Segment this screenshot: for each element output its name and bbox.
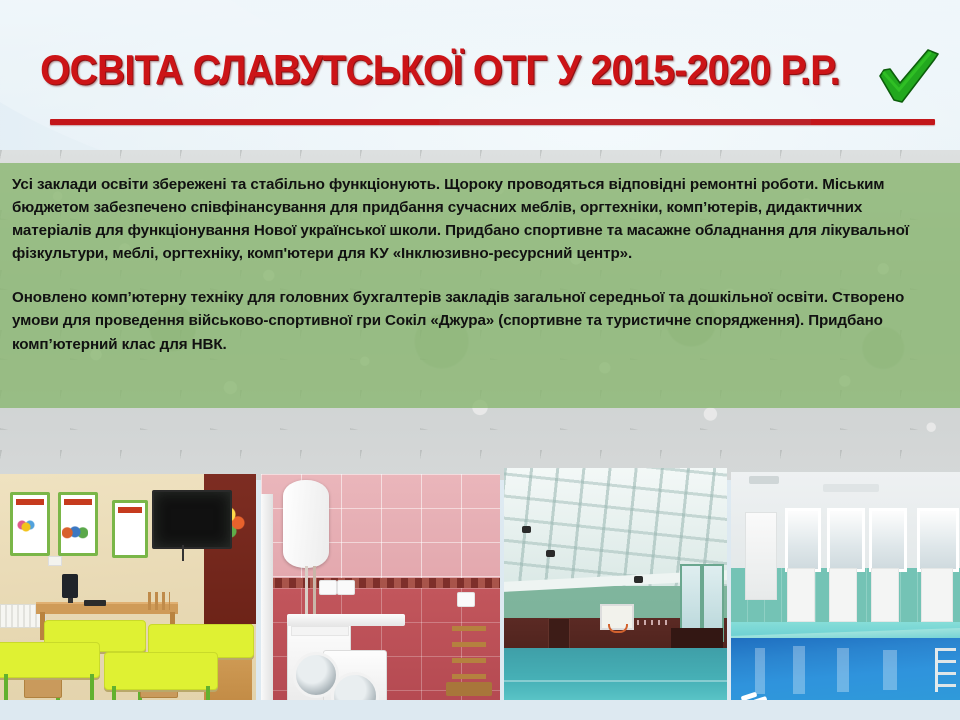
laundry-pipe: [305, 566, 308, 616]
pool-window: [785, 508, 821, 572]
classroom-keyboard: [84, 600, 106, 606]
classroom-poster-flower-art: [16, 518, 36, 538]
classroom-television: [152, 490, 232, 549]
pool-window: [827, 508, 865, 572]
pool-water-reflection: [883, 650, 897, 690]
page-title: ОСВІТА СЛАВУТСЬКОЇ ОТГ У 2015-2020 Р.Р.: [35, 46, 845, 94]
paragraph-1: Усі заклади освіти збережені та стабільн…: [12, 173, 942, 265]
laundry-power-socket: [319, 580, 337, 595]
classroom-monitor-stand: [68, 598, 73, 603]
classroom-wall-socket: [48, 556, 62, 566]
title-underline: [50, 119, 935, 125]
laundry-door-frame: [261, 494, 273, 700]
presentation-slide: ОСВІТА СЛАВУТСЬКОЇ ОТГ У 2015-2020 Р.Р. …: [0, 0, 960, 720]
classroom-poster-children-art: [62, 522, 88, 540]
pool-radiator-panel: [921, 568, 953, 622]
classroom-desk-leg: [206, 686, 210, 700]
classroom-desk-leg: [90, 674, 94, 700]
laundry-water-heater: [283, 480, 329, 568]
classroom-desk-leg: [4, 674, 8, 700]
gym-spotlight-icon: [634, 576, 643, 583]
laundry-chair-seat: [446, 682, 492, 696]
pool-water-reflection: [837, 648, 849, 692]
laundry-tile-border: [261, 578, 500, 588]
classroom-chair-back: [148, 592, 170, 610]
classroom-photo: [0, 474, 256, 700]
pool-water-reflection: [755, 648, 765, 694]
pool-window: [869, 508, 907, 572]
laundry-power-socket: [457, 592, 475, 607]
pool-ceiling-lamp: [749, 476, 779, 484]
pool-radiator-panel: [787, 568, 815, 622]
pool-window: [917, 508, 959, 572]
pool-radiator-panel: [829, 568, 857, 622]
photo-strip: [0, 468, 960, 700]
gym-spotlight-icon: [546, 550, 555, 557]
laundry-power-socket: [337, 580, 355, 595]
classroom-desk-leg: [112, 686, 116, 700]
laundry-room-photo: [261, 474, 500, 700]
classroom-desk: [0, 642, 100, 678]
swimming-pool-photo: [731, 472, 960, 700]
washing-machine-control-panel: [291, 626, 349, 636]
pool-ceiling-lamp: [823, 484, 879, 492]
gym-spotlight-icon: [522, 526, 531, 533]
pool-radiator-panel: [871, 568, 899, 622]
pool-door: [745, 512, 777, 600]
gymnasium-photo: [504, 468, 727, 700]
classroom-poster: [112, 500, 148, 558]
laundry-pipe: [313, 566, 316, 614]
gym-floor-line: [504, 680, 727, 682]
laundry-counter-top: [287, 614, 405, 626]
classroom-desk: [104, 652, 218, 690]
paragraph-2: Оновлено комп’ютерну техніку для головни…: [12, 286, 942, 355]
pool-water-reflection: [793, 646, 805, 694]
classroom-tv-cable: [182, 545, 184, 561]
content-panel-text: Усі заклади освіти збережені та стабільн…: [12, 173, 942, 356]
pool-ladder: [935, 648, 956, 692]
gym-floor: [504, 648, 727, 700]
content-panel: Усі заклади освіти збережені та стабільн…: [0, 163, 960, 408]
green-check-mark-icon: [872, 46, 946, 110]
pool-water: [731, 638, 960, 700]
classroom-monitor: [62, 574, 78, 598]
